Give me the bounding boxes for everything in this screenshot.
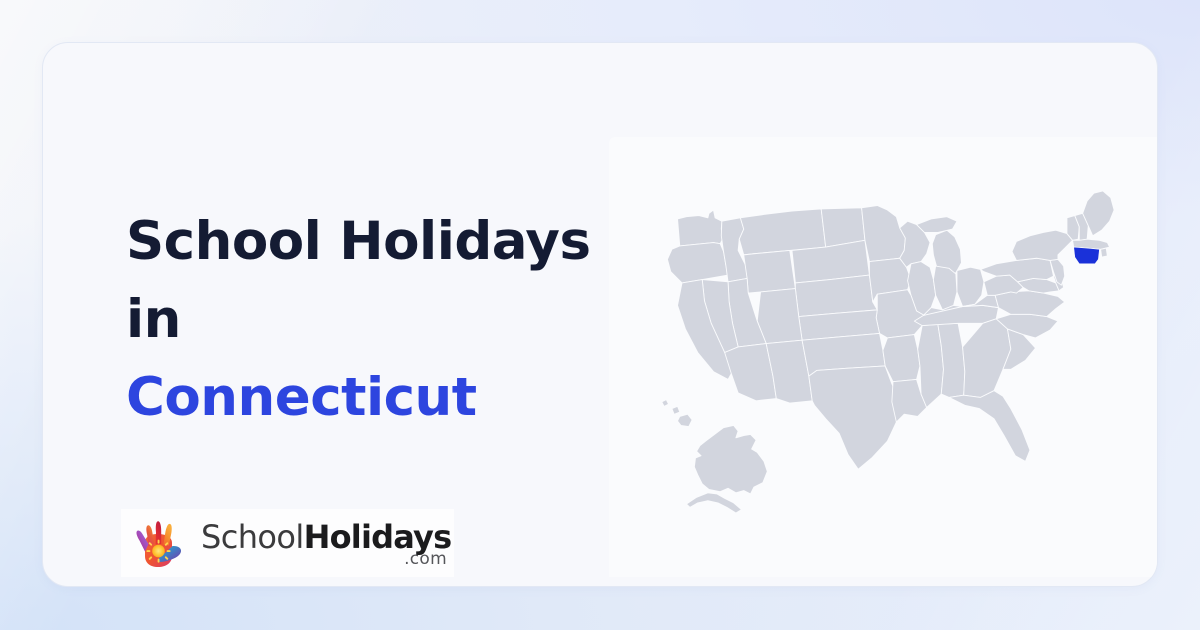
state-wyoming[interactable] — [744, 250, 796, 293]
state-new-york[interactable] — [1012, 230, 1073, 260]
state-hawaii-big-island[interactable] — [678, 414, 693, 426]
state-texas[interactable] — [809, 366, 901, 469]
state-virginia[interactable] — [995, 291, 1065, 317]
headline-line-1: School Holidays — [126, 211, 591, 272]
state-rhode-island[interactable] — [1101, 248, 1108, 257]
state-washington[interactable] — [678, 210, 724, 246]
colorful-hand-icon — [129, 515, 189, 571]
state-hawaii-maui[interactable] — [672, 406, 680, 414]
state-nebraska[interactable] — [795, 275, 877, 317]
state-alaska-aleutians[interactable] — [687, 493, 742, 513]
site-logo[interactable]: SchoolHolidays .com — [121, 509, 454, 577]
logo-wordmark: SchoolHolidays .com — [201, 515, 454, 571]
state-connecticut-selected[interactable] — [1074, 247, 1100, 264]
state-oregon[interactable] — [667, 243, 728, 283]
headline-line-2: in — [126, 289, 181, 350]
us-map-panel — [609, 137, 1158, 577]
state-alaska[interactable] — [694, 425, 767, 493]
headline-block: School Holidays in Connecticut — [126, 203, 586, 437]
state-minnesota[interactable] — [862, 206, 906, 262]
state-indiana[interactable] — [933, 266, 957, 310]
state-florida[interactable] — [949, 391, 1030, 462]
content-card: School Holidays in Connecticut — [42, 42, 1158, 587]
state-michigan-upper-peninsula[interactable] — [917, 217, 957, 233]
state-colorado[interactable] — [757, 289, 802, 344]
state-hawaii[interactable] — [662, 400, 669, 407]
state-georgia[interactable] — [963, 319, 1011, 398]
headline-line-3-state: Connecticut — [126, 367, 477, 428]
page-title: School Holidays in Connecticut — [126, 203, 586, 437]
poster-canvas: School Holidays in Connecticut — [0, 0, 1200, 630]
logo-tld: .com — [404, 551, 447, 568]
logo-word-school: School — [201, 518, 304, 556]
us-map-svg[interactable] — [623, 155, 1158, 559]
